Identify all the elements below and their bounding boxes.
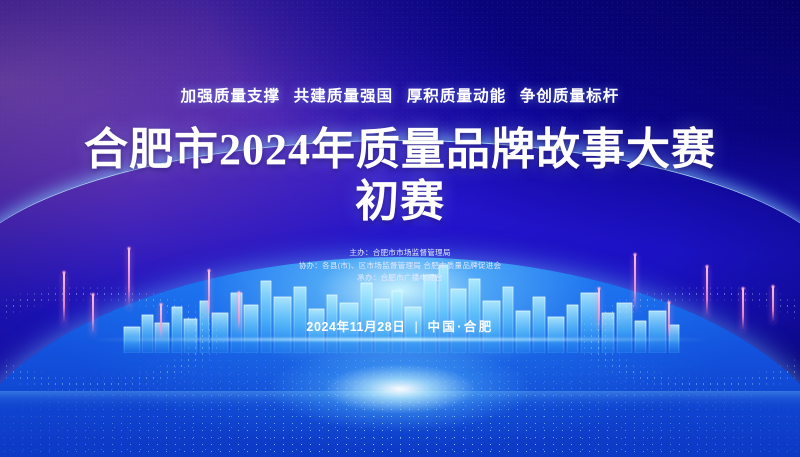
event-location: 中国·合肥 (427, 320, 493, 334)
organizer-operator: 承办：合肥市广播电视台 (0, 272, 800, 285)
slogan-part-2: 共建质量强国 (294, 88, 394, 105)
poster-content: 加强质量支撑 共建质量强国 厚积质量动能 争创质量标杆 合肥市2024年质量品牌… (0, 0, 800, 457)
organizer-host: 主办：合肥市市场监督管理局 (0, 247, 800, 260)
date-location-bar: 2024年11月28日 | 中国·合肥 (0, 316, 800, 335)
title-line-2: 初赛 (0, 176, 800, 228)
organizer-block: 主办：合肥市市场监督管理局 协办：各县(市)、区市场监督管理局 合肥市质量品牌促… (0, 247, 800, 285)
event-date: 2024年11月28日 (306, 320, 405, 334)
organizer-cohost: 协办：各县(市)、区市场监督管理局 合肥市质量品牌促进会 (0, 260, 800, 273)
event-poster: 加强质量支撑 共建质量强国 厚积质量动能 争创质量标杆 合肥市2024年质量品牌… (0, 0, 800, 457)
page-title: 合肥市2024年质量品牌故事大赛 初赛 (0, 124, 800, 228)
title-line-1: 合肥市2024年质量品牌故事大赛 (84, 125, 716, 174)
slogan-part-1: 加强质量支撑 (181, 88, 281, 105)
slogan-line: 加强质量支撑 共建质量强国 厚积质量动能 争创质量标杆 (0, 84, 800, 106)
date-location-separator: | (415, 320, 419, 334)
slogan-part-3: 厚积质量动能 (407, 88, 507, 105)
slogan-part-4: 争创质量标杆 (520, 88, 620, 105)
